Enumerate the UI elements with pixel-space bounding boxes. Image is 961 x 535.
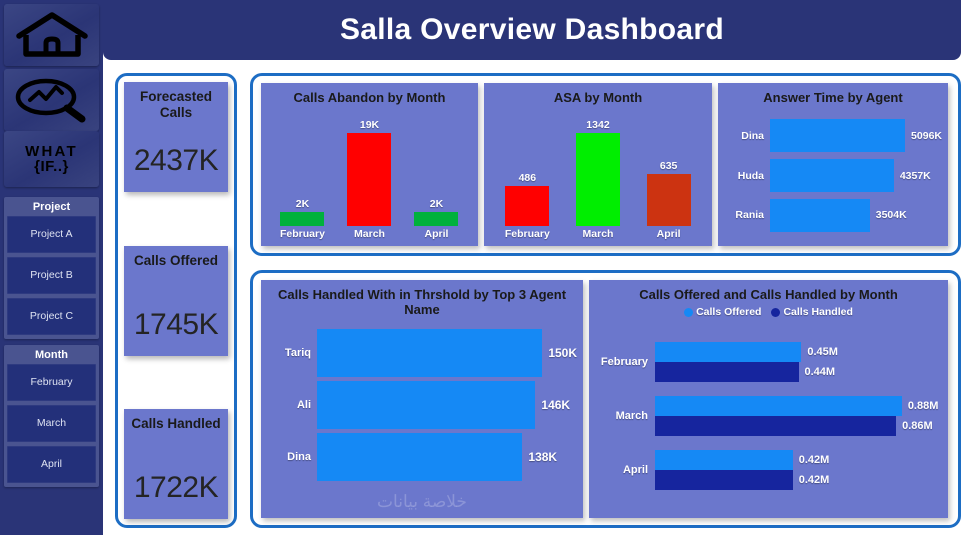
bar-calls-offered	[655, 450, 793, 470]
bar-value-label: 0.86M	[902, 420, 933, 432]
slicer-project: Project Project A Project B Project C	[4, 197, 99, 339]
bar	[414, 212, 458, 226]
bar-value-label: 146K	[541, 398, 570, 412]
legend-label: Calls Offered	[696, 306, 761, 318]
category-label: Rania	[724, 209, 770, 221]
legend-dot-icon	[684, 308, 693, 317]
bottom-chart-frame: Calls Handled With in Thrshold by Top 3 …	[250, 270, 961, 528]
kpi-card-calls-offered[interactable]: Calls Offered 1745K	[124, 246, 228, 356]
category-label: Dina	[267, 451, 317, 463]
chart-answer-time-by-agent[interactable]: Answer Time by Agent Dina 5096K Huda 435…	[718, 83, 948, 246]
bar-row: Dina 5096K	[724, 119, 942, 153]
bar	[770, 159, 894, 192]
slicer-item-march[interactable]: March	[7, 405, 96, 442]
bar-value-label: 635	[660, 160, 678, 172]
bar-value-label: 1342	[586, 119, 609, 131]
legend-item-calls-handled[interactable]: Calls Handled	[771, 306, 852, 318]
bar-group: March 0.88M 0.86M	[595, 396, 942, 436]
bar-value-label: 0.88M	[908, 400, 939, 412]
bar-row: Rania 3504K	[724, 198, 942, 232]
bar	[317, 433, 522, 481]
chart-plot-area: 486 February 1342 March 635 April	[492, 111, 704, 240]
top-chart-frame: Calls Abandon by Month 2K February 19K M…	[250, 73, 961, 256]
dashboard-root: WHAT {IF..} Project Project A Project B …	[0, 0, 961, 535]
slicer-item-project-a[interactable]: Project A	[7, 216, 96, 253]
bar-calls-handled	[655, 362, 799, 382]
kpi-card-group: Forecasted Calls 2437K Calls Offered 174…	[115, 73, 237, 528]
header-bar: Salla Overview Dashboard	[103, 0, 961, 60]
bar	[317, 329, 542, 377]
home-nav-button[interactable]	[4, 4, 99, 66]
what-if-line2: {IF..}	[34, 159, 69, 175]
bar	[505, 186, 549, 226]
bar-row: Dina 138K	[267, 432, 577, 482]
bar-group: February 0.45M 0.44M	[595, 342, 942, 382]
legend-dot-icon	[771, 308, 780, 317]
slicer-item-project-b[interactable]: Project B	[7, 257, 96, 294]
chart-asa-by-month[interactable]: ASA by Month 486 February 1342 March 635…	[484, 83, 712, 246]
slicer-month: Month February March April	[4, 345, 99, 487]
category-label: February	[280, 228, 325, 240]
home-icon	[15, 12, 89, 58]
slicer-item-project-c[interactable]: Project C	[7, 298, 96, 335]
watermark-text: خلاصة بيانات	[261, 492, 583, 512]
category-label: April	[595, 464, 655, 476]
category-label: March	[583, 228, 614, 240]
chart-title: Answer Time by Agent	[718, 90, 948, 105]
slicer-month-title: Month	[7, 347, 96, 364]
chart-plot-area: Tariq 150K Ali 146K Dina	[267, 326, 577, 484]
legend-item-calls-offered[interactable]: Calls Offered	[684, 306, 761, 318]
bar-value-label: 5096K	[911, 130, 942, 142]
bar-value-label: 3504K	[876, 209, 907, 221]
bar-group: 486 February	[496, 111, 560, 240]
kpi-label: Calls Handled	[131, 416, 220, 432]
chart-calls-abandon-by-month[interactable]: Calls Abandon by Month 2K February 19K M…	[261, 83, 478, 246]
bar-calls-handled	[655, 470, 793, 490]
slicer-item-february[interactable]: February	[7, 364, 96, 401]
bar-row: Huda 4357K	[724, 159, 942, 193]
bar-value-label: 0.42M	[799, 474, 830, 486]
bar-value-label: 0.45M	[807, 346, 838, 358]
chart-plot-area: 2K February 19K March 2K April	[269, 111, 470, 240]
chart-calls-offered-and-handled-by-month[interactable]: Calls Offered and Calls Handled by Month…	[589, 280, 948, 518]
chart-calls-handled-within-threshold[interactable]: Calls Handled With in Thrshold by Top 3 …	[261, 280, 583, 518]
chart-title: ASA by Month	[484, 90, 712, 105]
bar-value-label: 4357K	[900, 170, 931, 182]
slicer-project-title: Project	[7, 199, 96, 216]
bar-group: 19K March	[339, 111, 399, 240]
what-if-line1: WHAT	[25, 144, 78, 159]
sidebar: WHAT {IF..} Project Project A Project B …	[0, 0, 103, 535]
category-label: April	[425, 228, 449, 240]
bar	[647, 174, 691, 226]
category-label: Dina	[724, 130, 770, 142]
bar-value-label: 138K	[528, 450, 557, 464]
category-label: February	[505, 228, 550, 240]
bar-value-label: 2K	[296, 198, 309, 210]
kpi-value: 2437K	[134, 144, 218, 178]
category-label: Tariq	[267, 347, 317, 359]
chart-plot-area: Dina 5096K Huda 4357K Rania	[724, 113, 942, 238]
bar-group: 1342 March	[566, 111, 630, 240]
chart-title: Calls Handled With in Thrshold by Top 3 …	[261, 287, 583, 317]
kpi-label: Forecasted Calls	[124, 89, 228, 121]
bar	[347, 133, 391, 226]
bar-calls-offered	[655, 396, 902, 416]
category-label: March	[595, 410, 655, 422]
bar-group: 2K February	[272, 111, 332, 240]
chart-legend: Calls Offered Calls Handled	[589, 306, 948, 318]
bar-row: Tariq 150K	[267, 328, 577, 378]
analyze-nav-button[interactable]	[4, 69, 99, 131]
bar-calls-handled	[655, 416, 896, 436]
category-label: February	[595, 356, 655, 368]
bar	[317, 381, 535, 429]
magnifier-chart-icon	[12, 77, 92, 123]
bar-row: Ali 146K	[267, 380, 577, 430]
chart-title: Calls Abandon by Month	[261, 90, 478, 105]
category-label: April	[657, 228, 681, 240]
kpi-card-calls-handled[interactable]: Calls Handled 1722K	[124, 409, 228, 519]
bar	[770, 199, 870, 232]
category-label: Huda	[724, 170, 770, 182]
kpi-card-forecasted-calls[interactable]: Forecasted Calls 2437K	[124, 82, 228, 192]
bar-calls-offered	[655, 342, 801, 362]
bar-value-label: 2K	[430, 198, 443, 210]
chart-title: Calls Offered and Calls Handled by Month	[589, 287, 948, 302]
bar-group: 2K April	[406, 111, 466, 240]
bar	[280, 212, 324, 226]
bar	[576, 133, 620, 226]
what-if-button[interactable]: WHAT {IF..}	[4, 131, 99, 187]
chart-plot-area: February 0.45M 0.44M March	[595, 328, 942, 504]
kpi-value: 1745K	[134, 308, 218, 342]
category-label: Ali	[267, 399, 317, 411]
page-title: Salla Overview Dashboard	[340, 13, 724, 47]
bar	[770, 119, 905, 152]
kpi-label: Calls Offered	[134, 253, 218, 269]
bar-group: April 0.42M 0.42M	[595, 450, 942, 490]
bar-value-label: 150K	[548, 346, 577, 360]
bar-value-label: 19K	[360, 119, 379, 131]
bar-value-label: 486	[519, 172, 537, 184]
bar-group: 635 April	[637, 111, 701, 240]
bar-value-label: 0.44M	[805, 366, 836, 378]
slicer-item-april[interactable]: April	[7, 446, 96, 483]
legend-label: Calls Handled	[783, 306, 852, 318]
bar-value-label: 0.42M	[799, 454, 830, 466]
category-label: March	[354, 228, 385, 240]
kpi-value: 1722K	[134, 471, 218, 505]
